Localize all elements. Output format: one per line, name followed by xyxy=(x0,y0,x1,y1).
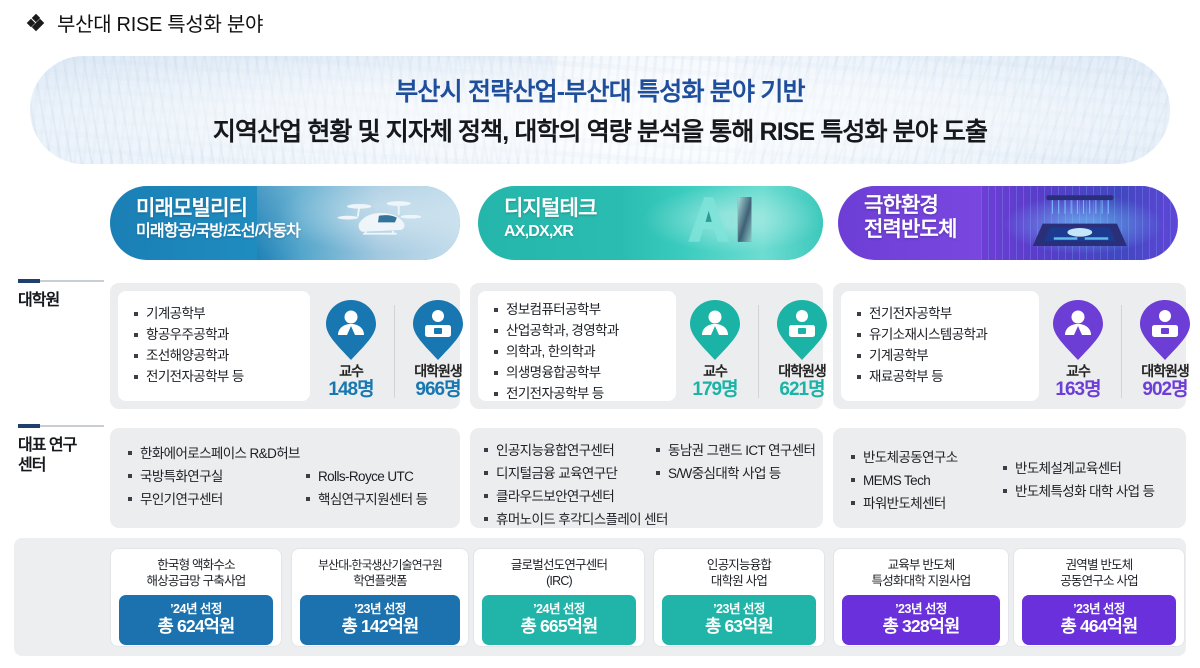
funding-title-line1: 인공지능융합 xyxy=(707,557,771,573)
stat-professor-mobility: 교수 148명 xyxy=(314,299,388,402)
stat-value: 966명 xyxy=(401,379,475,402)
grad-shell-mobility: 기계공학부 항공우주공학과 조선해양공학과 전기전자공학부 등 교수 148명 xyxy=(110,283,460,409)
funding-title-line1: 교육부 반도체 xyxy=(888,557,955,573)
graduate-student-pin-icon xyxy=(412,299,464,361)
headline-banner: 부산시 전략산업-부산대 특성화 분야 기반 지역산업 현황 및 지자체 정책,… xyxy=(30,56,1170,164)
list-item: 조선해양공학과 xyxy=(134,345,296,366)
list-item: 반도체공동연구소 xyxy=(851,446,1003,469)
stat-value: 163명 xyxy=(1041,379,1115,402)
funding-chip: ’23년 선정 총 142억원 xyxy=(300,595,460,645)
list-item: 반도체특성화 대학 사업 등 xyxy=(1003,480,1154,503)
stat-value: 179명 xyxy=(678,379,752,402)
centers-shell-mobility: 한화에어로스페이스 R&D허브 국방특화연구실 무인기연구센터 Rolls-Ro… xyxy=(110,428,460,528)
centers-list-extreme-col1: 반도체공동연구소 MEMS Tech 파워반도체센터 xyxy=(851,446,1003,515)
grad-stats-mobility: 교수 148명 대학원생 966명 xyxy=(314,299,475,402)
list-item: 의학과, 한의학과 xyxy=(494,341,662,362)
list-item: 전기전자공학부 xyxy=(857,303,1025,324)
stat-student-extreme: 대학원생 902명 xyxy=(1128,299,1200,402)
funding-card-2[interactable]: 부산대-한국생산기술연구원 학연플랫폼 ’23년 선정 총 142억원 xyxy=(291,548,469,647)
stat-student-digital: 대학원생 621명 xyxy=(765,299,839,402)
pill-subtitle-digital: AX,DX,XR xyxy=(504,223,823,241)
funding-title-line1: 글로벌선도연구센터 xyxy=(511,557,607,573)
funding-chip: ’23년 선정 총 63억원 xyxy=(662,595,816,645)
list-item: 기계공학부 xyxy=(134,303,296,324)
list-item: 전기전자공학부 등 xyxy=(134,366,296,387)
page-title-text: 부산대 RISE 특성화 분야 xyxy=(57,8,263,37)
list-item: 인공지능융합연구센터 xyxy=(484,439,656,462)
stat-divider xyxy=(1121,305,1122,398)
stat-caption: 교수 xyxy=(678,363,752,379)
funding-title-line1: 권역별 반도체 xyxy=(1066,557,1133,573)
funding-year: ’23년 선정 xyxy=(354,602,406,616)
funding-card-3[interactable]: 글로벌선도연구센터 (IRC) ’24년 선정 총 665억원 xyxy=(473,548,645,647)
stat-professor-extreme: 교수 163명 xyxy=(1041,299,1115,402)
row-label-center: 대표 연구 센터 xyxy=(18,425,114,475)
funding-card-5[interactable]: 교육부 반도체 특성화대학 지원사업 ’23년 선정 총 328억원 xyxy=(833,548,1009,647)
funding-card-4[interactable]: 인공지능융합 대학원 사업 ’23년 선정 총 63억원 xyxy=(653,548,825,647)
centers-shell-digital: 인공지능융합연구센터 디지털금융 교육연구단 클라우드보안연구센터 휴머노이드 … xyxy=(470,428,823,528)
pill-title-digital: 디지털테크 xyxy=(504,197,823,221)
list-item: 의생명융합공학부 xyxy=(494,362,662,383)
centers-list-mobility-col2: Rolls-Royce UTC 핵심연구지원센터 등 xyxy=(306,465,428,511)
graduate-student-pin-icon xyxy=(1139,299,1191,361)
centers-list-extreme-col2: 반도체설계교육센터 반도체특성화 대학 사업 등 xyxy=(1003,457,1154,503)
graduate-student-pin-icon xyxy=(776,299,828,361)
slide-root: 부산대 RISE 특성화 분야 부산시 전략산업-부산대 특성화 분야 기반 지… xyxy=(0,0,1200,668)
list-item: 휴머노이드 후각디스플레이 센터 xyxy=(484,508,656,531)
funding-card-6[interactable]: 권역별 반도체 공동연구소 사업 ’23년 선정 총 464억원 xyxy=(1013,548,1185,647)
pill-title-mobility: 미래모빌리티 xyxy=(136,197,460,221)
page-title: 부산대 RISE 특성화 분야 xyxy=(28,8,263,37)
professor-person-pin-icon xyxy=(689,299,741,361)
list-item: 산업공학과, 경영학과 xyxy=(494,320,662,341)
row-label-rule xyxy=(18,425,104,427)
funding-title-line2: (IRC) xyxy=(546,573,572,589)
list-item: 유기소재시스템공학과 xyxy=(857,324,1025,345)
grad-dept-list-mobility: 기계공학부 항공우주공학과 조선해양공학과 전기전자공학부 등 xyxy=(134,303,296,387)
list-item: 재료공학부 등 xyxy=(857,366,1025,387)
list-item: S/W중심대학 사업 등 xyxy=(656,462,815,485)
list-item: 클라우드보안연구센터 xyxy=(484,485,656,508)
funding-chip: ’23년 선정 총 328억원 xyxy=(842,595,1000,645)
funding-title-line2: 학연플랫폼 xyxy=(353,573,407,589)
list-item: 정보컴퓨터공학부 xyxy=(494,299,662,320)
row-label-center-line2: 센터 xyxy=(18,457,45,474)
list-item: 기계공학부 xyxy=(857,345,1025,366)
list-item: Rolls-Royce UTC xyxy=(306,465,428,488)
stat-divider xyxy=(394,305,395,398)
list-item: 무인기연구센터 xyxy=(128,488,306,511)
stat-value: 148명 xyxy=(314,379,388,402)
banner-headline: 부산시 전략산업-부산대 특성화 분야 기반 xyxy=(395,72,805,108)
funding-title-line1: 한국형 액화수소 xyxy=(157,557,235,573)
stat-caption: 대학원생 xyxy=(765,363,839,379)
funding-year: ’23년 선정 xyxy=(895,602,947,616)
stat-caption: 대학원생 xyxy=(1128,363,1200,379)
grad-shell-extreme: 전기전자공학부 유기소재시스템공학과 기계공학부 재료공학부 등 교수 163명 xyxy=(833,283,1186,409)
grad-dept-card-mobility: 기계공학부 항공우주공학과 조선해양공학과 전기전자공학부 등 xyxy=(118,291,310,401)
row-label-rule xyxy=(18,280,104,282)
list-item: 항공우주공학과 xyxy=(134,324,296,345)
grad-dept-list-digital: 정보컴퓨터공학부 산업공학과, 경영학과 의학과, 한의학과 의생명융합공학부 … xyxy=(494,299,662,404)
category-pill-extreme[interactable]: 극한환경 전력반도체 xyxy=(838,186,1178,260)
funding-amount: 총 328억원 xyxy=(883,616,960,638)
stat-professor-digital: 교수 179명 xyxy=(678,299,752,402)
list-item: 한화에어로스페이스 R&D허브 xyxy=(128,442,306,465)
funding-title-line2: 공동연구소 사업 xyxy=(1060,573,1138,589)
funding-chip: ’24년 선정 총 624억원 xyxy=(119,595,273,645)
stat-caption: 교수 xyxy=(1041,363,1115,379)
funding-amount: 총 665억원 xyxy=(521,616,598,638)
funding-amount: 총 624억원 xyxy=(158,616,235,638)
grad-stats-digital: 교수 179명 대학원생 621명 xyxy=(678,299,839,402)
stat-value: 621명 xyxy=(765,379,839,402)
list-item: 국방특화연구실 xyxy=(128,465,306,488)
grad-shell-digital: 정보컴퓨터공학부 산업공학과, 경영학과 의학과, 한의학과 의생명융합공학부 … xyxy=(470,283,823,409)
list-item: 전기전자공학부 등 xyxy=(494,383,662,404)
centers-list-mobility-col1: 한화에어로스페이스 R&D허브 국방특화연구실 무인기연구센터 xyxy=(128,442,306,511)
pill-title-extreme: 극한환경 xyxy=(864,194,1178,218)
list-item: MEMS Tech xyxy=(851,469,1003,492)
row-label-center-line1: 대표 연구 xyxy=(18,437,76,454)
category-pill-mobility[interactable]: 미래모빌리티 미래항공/국방/조선/자동차 xyxy=(110,186,460,260)
funding-amount: 총 142억원 xyxy=(342,616,419,638)
funding-amount: 총 63억원 xyxy=(705,616,773,638)
grad-dept-list-extreme: 전기전자공학부 유기소재시스템공학과 기계공학부 재료공학부 등 xyxy=(857,303,1025,387)
grad-dept-card-digital: 정보컴퓨터공학부 산업공학과, 경영학과 의학과, 한의학과 의생명융합공학부 … xyxy=(478,291,676,401)
funding-title-line2: 대학원 사업 xyxy=(711,573,767,589)
funding-title-line1: 부산대-한국생산기술연구원 xyxy=(318,557,442,573)
list-item: 디지털금융 교육연구단 xyxy=(484,462,656,485)
stat-divider xyxy=(758,305,759,398)
stat-caption: 교수 xyxy=(314,363,388,379)
grad-dept-card-extreme: 전기전자공학부 유기소재시스템공학과 기계공학부 재료공학부 등 xyxy=(841,291,1039,401)
row-label-graduate-text: 대학원 xyxy=(18,292,59,309)
banner-subheadline: 지역산업 현황 및 지자체 정책, 대학의 역량 분석을 통해 RISE 특성화… xyxy=(213,112,987,148)
row-label-graduate: 대학원 xyxy=(18,280,114,311)
stat-student-mobility: 대학원생 966명 xyxy=(401,299,475,402)
category-pill-digital[interactable]: 디지털테크 AX,DX,XR xyxy=(478,186,823,260)
funding-year: ’23년 선정 xyxy=(713,602,765,616)
list-item: 반도체설계교육센터 xyxy=(1003,457,1154,480)
list-item: 핵심연구지원센터 등 xyxy=(306,488,428,511)
centers-list-digital-col1: 인공지능융합연구센터 디지털금융 교육연구단 클라우드보안연구센터 휴머노이드 … xyxy=(484,439,656,531)
funding-card-1[interactable]: 한국형 액화수소 해상공급망 구축사업 ’24년 선정 총 624억원 xyxy=(110,548,282,647)
funding-year: ’23년 선정 xyxy=(1073,602,1125,616)
grad-stats-extreme: 교수 163명 대학원생 902명 xyxy=(1041,299,1200,402)
funding-year: ’24년 선정 xyxy=(533,602,585,616)
pill-subtitle-extreme: 전력반도체 xyxy=(864,218,1178,242)
funding-amount: 총 464억원 xyxy=(1061,616,1138,638)
centers-shell-extreme: 반도체공동연구소 MEMS Tech 파워반도체센터 반도체설계교육센터 반도체… xyxy=(833,428,1186,528)
funding-title-line2: 해상공급망 구축사업 xyxy=(147,573,246,589)
funding-chip: ’23년 선정 총 464억원 xyxy=(1022,595,1176,645)
pill-subtitle-mobility: 미래항공/국방/조선/자동차 xyxy=(136,223,460,241)
centers-list-digital-col2: 동남권 그랜드 ICT 연구센터 S/W중심대학 사업 등 xyxy=(656,439,815,485)
diamond-bullet-icon xyxy=(28,15,43,30)
funding-year: ’24년 선정 xyxy=(170,602,222,616)
list-item: 동남권 그랜드 ICT 연구센터 xyxy=(656,439,815,462)
professor-person-pin-icon xyxy=(1052,299,1104,361)
list-item: 파워반도체센터 xyxy=(851,492,1003,515)
professor-person-pin-icon xyxy=(325,299,377,361)
stat-value: 902명 xyxy=(1128,379,1200,402)
stat-caption: 대학원생 xyxy=(401,363,475,379)
funding-title-line2: 특성화대학 지원사업 xyxy=(872,573,971,589)
funding-chip: ’24년 선정 총 665억원 xyxy=(482,595,636,645)
